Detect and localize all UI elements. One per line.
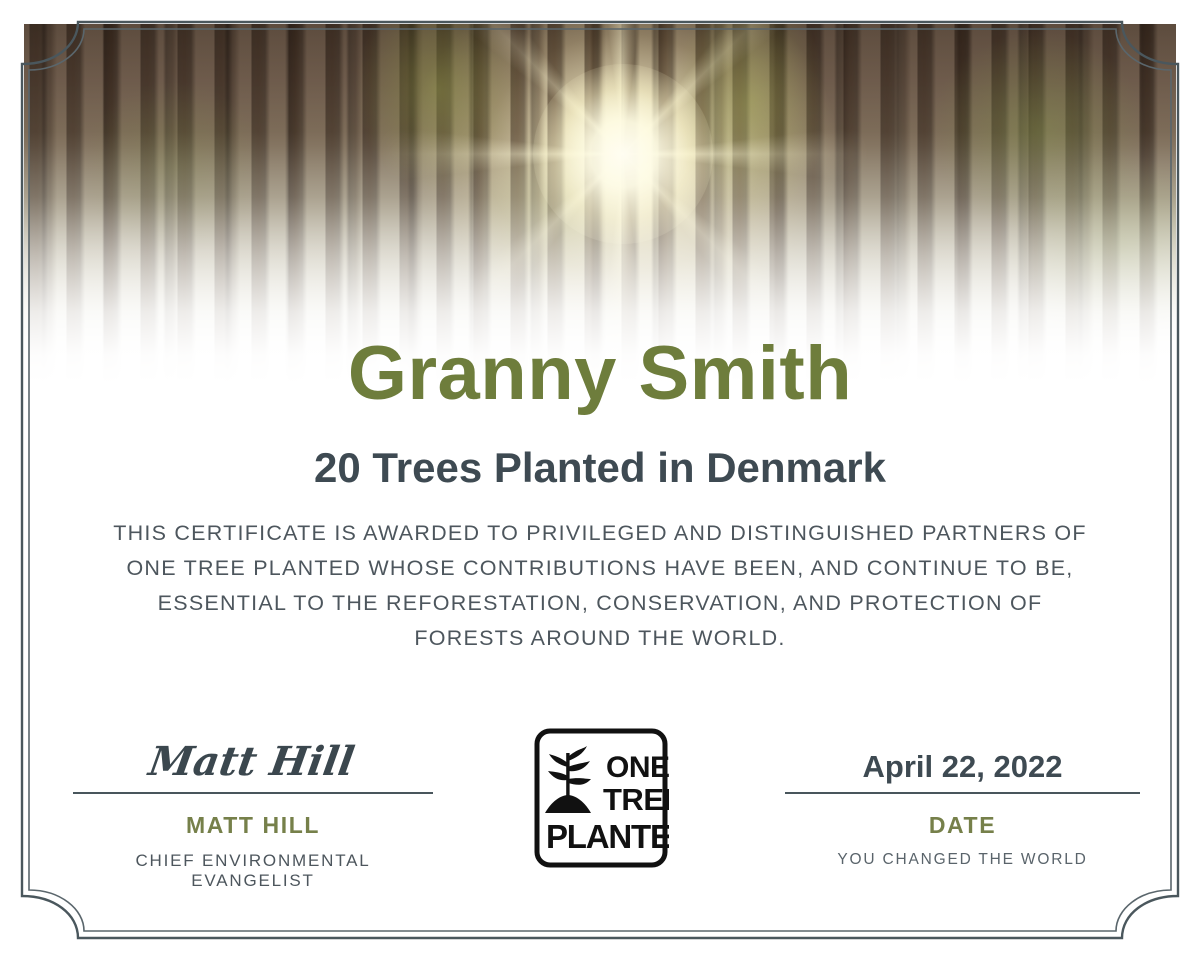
- citation-text: THIS CERTIFICATE IS AWARDED TO PRIVILEGE…: [110, 516, 1090, 656]
- date-label: DATE: [785, 812, 1140, 839]
- signature-block: Matt Hill MATT HILL CHIEF ENVIRONMENTAL …: [73, 720, 433, 891]
- gift-line: 20 Trees Planted in Denmark: [0, 447, 1200, 489]
- logo-line2: TREE: [603, 782, 669, 817]
- logo-line3: PLANTED: [546, 818, 669, 855]
- recipient-name: Granny Smith: [0, 336, 1200, 412]
- signatory-title: CHIEF ENVIRONMENTAL EVANGELIST: [73, 851, 433, 891]
- signature-script: Matt Hill: [68, 720, 438, 786]
- logo-svg: ONE TREE PLANTED: [533, 727, 669, 869]
- date-value: April 22, 2022: [785, 720, 1140, 786]
- logo-line1: ONE: [606, 751, 669, 784]
- date-block: April 22, 2022 DATE YOU CHANGED THE WORL…: [785, 720, 1140, 869]
- one-tree-planted-logo: ONE TREE PLANTED: [533, 727, 669, 869]
- certificate-content: Granny Smith 20 Trees Planted in Denmark…: [0, 0, 1200, 960]
- date-subtitle: YOU CHANGED THE WORLD: [785, 851, 1140, 869]
- signature-rule: [73, 792, 433, 794]
- date-rule: [785, 792, 1140, 794]
- signatory-name: MATT HILL: [73, 812, 433, 839]
- certificate: Granny Smith 20 Trees Planted in Denmark…: [0, 0, 1200, 960]
